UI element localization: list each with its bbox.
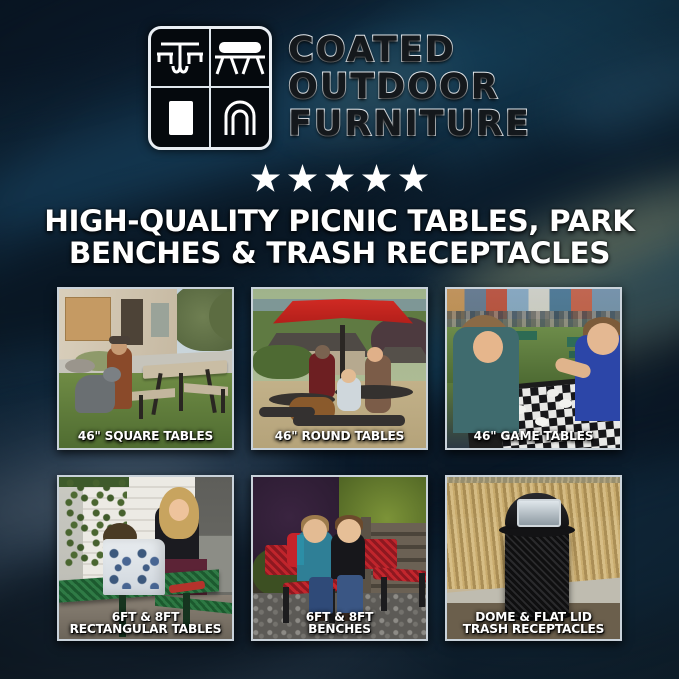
brand-logo: COATED OUTDOOR FURNITURE [0,0,679,150]
tile-caption-line-2: RECTANGULAR TABLES [59,623,232,636]
tile-caption: 6FT & 8FT RECTANGULAR TABLES [59,611,232,636]
bike-rack-arch-icon [211,88,269,147]
trash-receptacle-icon [151,88,211,147]
product-tile-round-tables[interactable]: 46" ROUND TABLES [251,287,428,450]
product-photo-round-tables [253,289,426,448]
tile-caption-line-2: TRASH RECEPTACLES [447,623,620,636]
poster-header: COATED OUTDOOR FURNITURE HIGH-QUALITY PI… [0,0,679,270]
headline-line-2: BENCHES & TRASH RECEPTACLES [36,238,643,270]
star-icon [325,164,355,194]
park-bench-icon [211,29,269,88]
logo-icon-grid [148,26,272,150]
star-icon [399,164,429,194]
product-tile-trash-receptacles[interactable]: DOME & FLAT LID TRASH RECEPTACLES [445,475,622,641]
star-rating [0,164,679,194]
picnic-table-icon [151,29,211,88]
star-icon [288,164,318,194]
headline-line-1: HIGH-QUALITY PICNIC TABLES, PARK [36,206,643,238]
marketing-poster: COATED OUTDOOR FURNITURE HIGH-QUALITY PI… [0,0,679,679]
tile-caption: 46" SQUARE TABLES [59,430,232,443]
product-tile-game-tables[interactable]: 46" GAME TABLES [445,287,622,450]
product-tile-grid: 46" SQUARE TABLES [57,287,622,641]
tile-caption: 46" GAME TABLES [447,430,620,443]
wordmark-line-3: FURNITURE [288,107,531,143]
headline: HIGH-QUALITY PICNIC TABLES, PARK BENCHES… [0,206,679,270]
tile-caption: DOME & FLAT LID TRASH RECEPTACLES [447,611,620,636]
wordmark-line-2: OUTDOOR [288,70,531,106]
product-photo-square-tables [59,289,232,448]
star-icon [251,164,281,194]
product-tile-benches[interactable]: 6FT & 8FT BENCHES [251,475,428,641]
product-tile-square-tables[interactable]: 46" SQUARE TABLES [57,287,234,450]
wordmark-line-1: COATED [288,33,531,69]
tile-caption: 6FT & 8FT BENCHES [253,611,426,636]
brand-wordmark: COATED OUTDOOR FURNITURE [288,33,531,142]
tile-caption-line-2: BENCHES [253,623,426,636]
tile-caption: 46" ROUND TABLES [253,430,426,443]
product-tile-rectangular-tables[interactable]: 6FT & 8FT RECTANGULAR TABLES [57,475,234,641]
product-photo-game-tables [447,289,620,448]
star-icon [362,164,392,194]
